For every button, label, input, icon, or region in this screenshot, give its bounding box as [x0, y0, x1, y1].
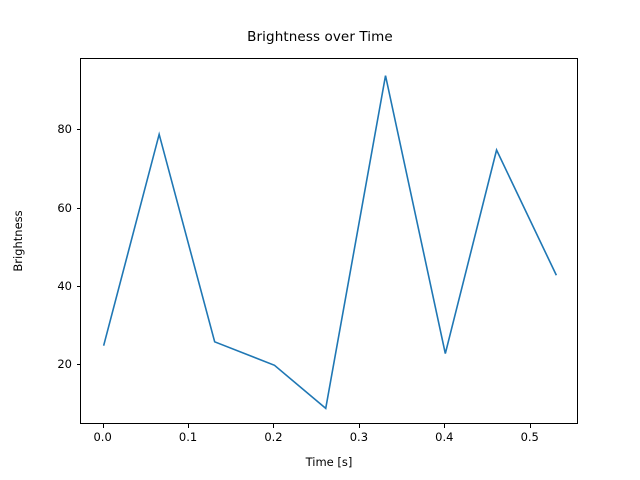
x-tick-label: 0.1: [179, 430, 197, 444]
x-tick-label: 0.3: [350, 430, 368, 444]
line-plot-svg: [81, 59, 579, 425]
y-tick-mark: [77, 286, 81, 287]
y-tick-mark: [77, 129, 81, 130]
x-tick-mark: [103, 424, 104, 428]
x-tick-mark: [188, 424, 189, 428]
x-tick-label: 0.5: [521, 430, 539, 444]
brightness-line: [104, 76, 557, 409]
y-tick-mark: [77, 208, 81, 209]
x-axis-label: Time [s]: [80, 455, 578, 469]
y-tick-label: 80: [38, 122, 72, 136]
x-tick-label: 0.2: [264, 430, 282, 444]
x-tick-mark: [273, 424, 274, 428]
x-tick-label: 0.0: [93, 430, 111, 444]
y-axis-label: Brightness: [11, 210, 25, 271]
y-tick-label: 60: [38, 201, 72, 215]
y-tick-label: 40: [38, 279, 72, 293]
x-tick-mark: [444, 424, 445, 428]
x-tick-mark: [530, 424, 531, 428]
plot-axes: [80, 58, 578, 424]
figure-canvas: Brightness over Time Time [s] Brightness…: [0, 0, 640, 480]
x-tick-mark: [359, 424, 360, 428]
x-tick-label: 0.4: [435, 430, 453, 444]
y-tick-label: 20: [38, 357, 72, 371]
chart-title: Brightness over Time: [0, 29, 640, 45]
y-tick-mark: [77, 364, 81, 365]
